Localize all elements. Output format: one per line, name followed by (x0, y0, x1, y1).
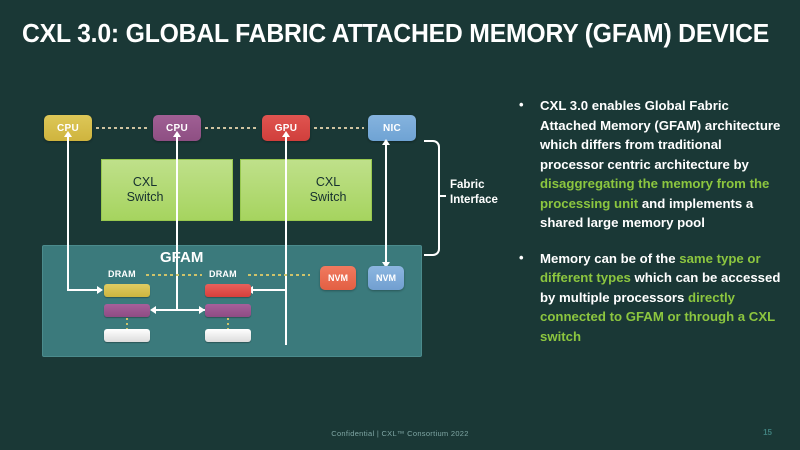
fabric-interface-label: Fabric Interface (450, 178, 498, 208)
cxl-switch-2[interactable]: CXL Switch (240, 159, 372, 221)
dotted-link-dram2-stack (227, 318, 229, 329)
node-nic-label: NIC (383, 123, 401, 134)
dotted-link-cpu2-gpu (205, 127, 258, 129)
fabric-interface-bracket-nub (438, 195, 446, 197)
architecture-diagram: CPU CPU GPU NIC CXL Switch CXL Switch GF… (0, 0, 500, 420)
node-nic[interactable]: NIC (368, 115, 416, 141)
bullet-item-1: CXL 3.0 enables Global Fabric Attached M… (516, 96, 788, 233)
memory-module-dram2-white[interactable] (205, 329, 251, 342)
connector-cpu2-vertical (176, 137, 178, 310)
connector-cpu1-vertical (67, 137, 69, 290)
dram-label-1: DRAM (108, 269, 136, 279)
slide: CXL 3.0: GLOBAL FABRIC ATTACHED MEMORY (… (0, 0, 800, 450)
page-number: 15 (763, 428, 772, 437)
fabric-interface-bracket (424, 140, 440, 256)
cxl-switch-1-line2: Switch (127, 190, 164, 204)
cxl-switch-1-line1: CXL (133, 175, 157, 189)
nvm-module-1-label: NVM (328, 273, 348, 283)
nvm-module-1[interactable]: NVM (320, 266, 356, 290)
dotted-link-dram1-dram2 (146, 274, 202, 276)
memory-module-dram2-red[interactable] (205, 284, 251, 297)
gfam-title: GFAM (160, 249, 203, 266)
dotted-link-dram2-nvm1 (248, 274, 310, 276)
bullet-1-seg-1: CXL 3.0 enables Global Fabric Attached M… (540, 98, 780, 172)
fabric-interface-line1: Fabric (450, 179, 485, 191)
arrowhead-dram1-purple-in (150, 306, 156, 314)
bullet-list: CXL 3.0 enables Global Fabric Attached M… (516, 96, 788, 362)
cxl-switch-1-label: CXL Switch (102, 175, 232, 205)
cxl-switch-1[interactable]: CXL Switch (101, 159, 233, 221)
bullet-2-seg-1: Memory can be of the (540, 251, 679, 266)
memory-module-dram1-purple[interactable] (104, 304, 150, 317)
dotted-link-dram1-stack (126, 318, 128, 329)
fabric-interface-line2: Interface (450, 194, 498, 206)
connector-nic-nvm (385, 145, 387, 265)
connector-cpu1-horizontal (67, 289, 97, 291)
dotted-link-cpu1-cpu2 (96, 127, 149, 129)
nvm-module-2-label: NVM (376, 273, 396, 283)
arrowhead-cpu1-up (64, 131, 72, 137)
connector-gpu-vertical (285, 137, 287, 345)
arrowhead-dram1-in (97, 286, 103, 294)
bullet-item-2: Memory can be of the same type or differ… (516, 249, 788, 347)
nvm-module-2[interactable]: NVM (368, 266, 404, 290)
dotted-link-gpu-nic (314, 127, 364, 129)
connector-cpu2-bus-right (156, 309, 205, 311)
cxl-switch-2-line2: Switch (310, 190, 347, 204)
memory-module-dram1-yellow[interactable] (104, 284, 150, 297)
cxl-switch-2-label: CXL Switch (241, 175, 371, 205)
arrowhead-nic-up (382, 139, 390, 145)
cxl-switch-2-line1: CXL (316, 175, 340, 189)
memory-module-dram1-white[interactable] (104, 329, 150, 342)
arrowhead-cpu2-up (173, 131, 181, 137)
dram-label-2: DRAM (209, 269, 237, 279)
footer-text: Confidential | CXL™ Consortium 2022 (0, 429, 800, 438)
memory-module-dram2-purple[interactable] (205, 304, 251, 317)
arrowhead-gpu-up (282, 131, 290, 137)
